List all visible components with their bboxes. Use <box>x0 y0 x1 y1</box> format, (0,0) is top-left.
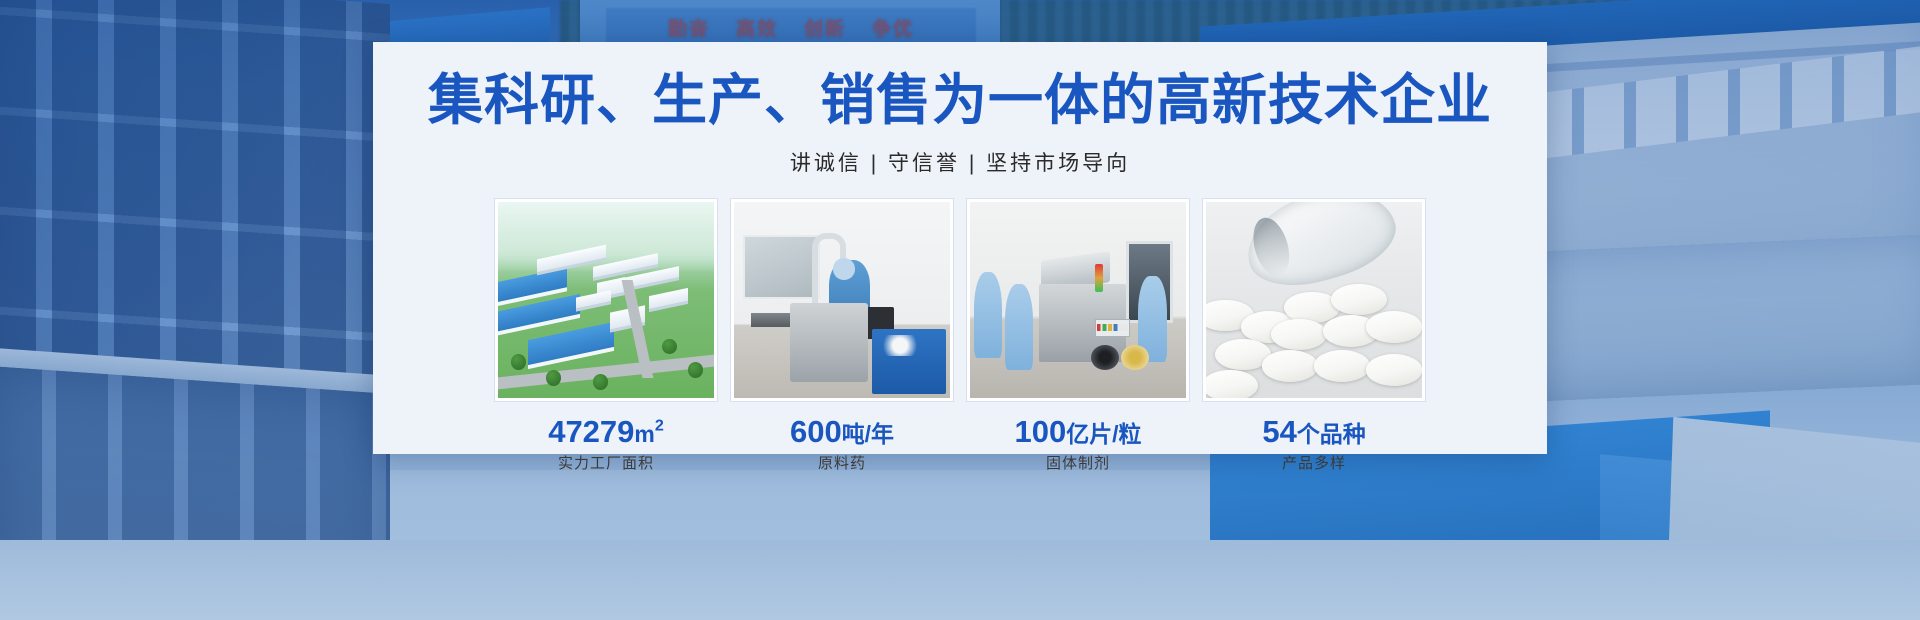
headline: 集科研、生产、销售为一体的高新技术企业 <box>373 70 1547 131</box>
tablet <box>1203 370 1258 400</box>
factory-slogan-banner: 勤奋 高效 创新 争优 <box>606 8 976 46</box>
stat-label-1: 实力工厂面积 <box>495 452 717 473</box>
worker-left <box>974 272 1002 358</box>
tablet <box>1366 354 1422 385</box>
stat-value-3: 100亿片/粒 <box>967 415 1189 449</box>
sky-haze <box>498 202 714 273</box>
tablet <box>1271 319 1327 350</box>
stat-label-4: 产品多样 <box>1203 452 1425 473</box>
slogan-word-2: 高效 <box>736 14 778 41</box>
tablet <box>1331 284 1387 315</box>
worker-hood <box>833 258 855 280</box>
white-block-f <box>649 288 688 312</box>
glass-bottle <box>1236 199 1405 300</box>
white-block-g <box>576 290 611 311</box>
slogan-word-3: 创新 <box>804 14 846 41</box>
control-panel <box>1095 319 1130 337</box>
thumbnail-aerial-factory-campus[interactable] <box>495 199 717 401</box>
thumbnail-cleanroom-packaging-workers[interactable] <box>967 199 1189 401</box>
stats-row: 47279m2 实力工厂面积 600吨/年 原料药 100亿片/粒 固体制剂 5… <box>373 415 1547 473</box>
tree-a <box>511 354 526 370</box>
slogan-word-4: 争优 <box>872 14 914 41</box>
stat-item-2: 600吨/年 原料药 <box>731 415 953 473</box>
photo-tile-row <box>373 199 1547 401</box>
labelling-machine-body <box>790 303 868 381</box>
stat-item-3: 100亿片/粒 固体制剂 <box>967 415 1189 473</box>
tile-4[interactable] <box>1203 199 1425 401</box>
tree-c <box>593 374 608 390</box>
stat-value-1: 47279m2 <box>495 415 717 449</box>
tile-3[interactable] <box>967 199 1189 401</box>
reel-dark <box>1091 345 1119 370</box>
tablet <box>1262 350 1318 381</box>
stat-label-3: 固体制剂 <box>967 452 1189 473</box>
tree-e <box>688 362 703 378</box>
tree-d <box>662 339 677 355</box>
blue-hall-c <box>528 322 614 370</box>
thumbnail-labelling-production-line[interactable] <box>731 199 953 401</box>
worker-centre <box>1005 284 1033 370</box>
stat-value-4: 54个品种 <box>1203 415 1425 449</box>
cleanroom-window <box>743 235 821 300</box>
promo-card: 集科研、生产、销售为一体的高新技术企业 讲诚信 | 守信誉 | 坚持市场导向 <box>373 42 1547 454</box>
tablet <box>1366 311 1422 342</box>
tablet <box>1314 350 1370 381</box>
stat-value-2: 600吨/年 <box>731 415 953 449</box>
stat-item-1: 47279m2 实力工厂面积 <box>495 415 717 473</box>
slogan-word-1: 勤奋 <box>668 14 710 41</box>
signal-tower-light <box>1095 264 1102 291</box>
tile-1[interactable] <box>495 199 717 401</box>
foreground-kerb <box>0 540 1920 620</box>
subheadline: 讲诚信 | 守信誉 | 坚持市场导向 <box>373 147 1547 177</box>
stat-label-2: 原料药 <box>731 452 953 473</box>
thumbnail-white-tablets-and-bottle[interactable] <box>1203 199 1425 401</box>
blue-crate-with-bottles <box>872 329 945 394</box>
tile-2[interactable] <box>731 199 953 401</box>
tree-b <box>546 370 561 386</box>
stat-item-4: 54个品种 产品多样 <box>1203 415 1425 473</box>
reel-yellow <box>1121 345 1149 370</box>
